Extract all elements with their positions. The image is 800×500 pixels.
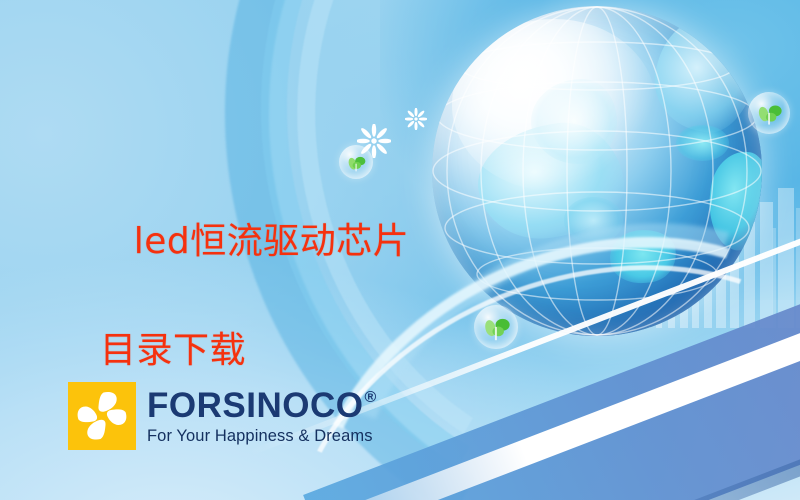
pinwheel-flower-icon — [68, 382, 136, 450]
promo-banner: led恒流驱动芯片 目录下载 FORSINOCO ® For Your Happ… — [0, 0, 800, 500]
starburst-small-icon — [405, 108, 427, 130]
logo-wordmark-text: FORSINOCO — [147, 388, 363, 423]
diagonal-band-shadow-edge — [427, 352, 800, 500]
globe-grid-lines — [432, 6, 762, 336]
logo-wordmark: FORSINOCO ® — [147, 388, 377, 423]
green-sprout-icon — [474, 305, 518, 349]
bubble-sprout-right — [748, 92, 790, 134]
headline-line-2: 目录下载 — [100, 324, 409, 379]
logo-tagline: For Your Happiness & Dreams — [147, 428, 377, 445]
green-sprout-icon — [748, 92, 790, 134]
logo-text-block: FORSINOCO ® For Your Happiness & Dreams — [147, 388, 377, 445]
globe-sphere — [432, 6, 762, 336]
headline-line-1: led恒流驱动芯片 — [134, 221, 410, 262]
earth-globe-icon — [432, 6, 762, 336]
bubble-sprout-center — [474, 305, 518, 349]
company-logo[interactable]: FORSINOCO ® For Your Happiness & Dreams — [68, 382, 377, 450]
registered-trademark-icon: ® — [364, 390, 376, 406]
